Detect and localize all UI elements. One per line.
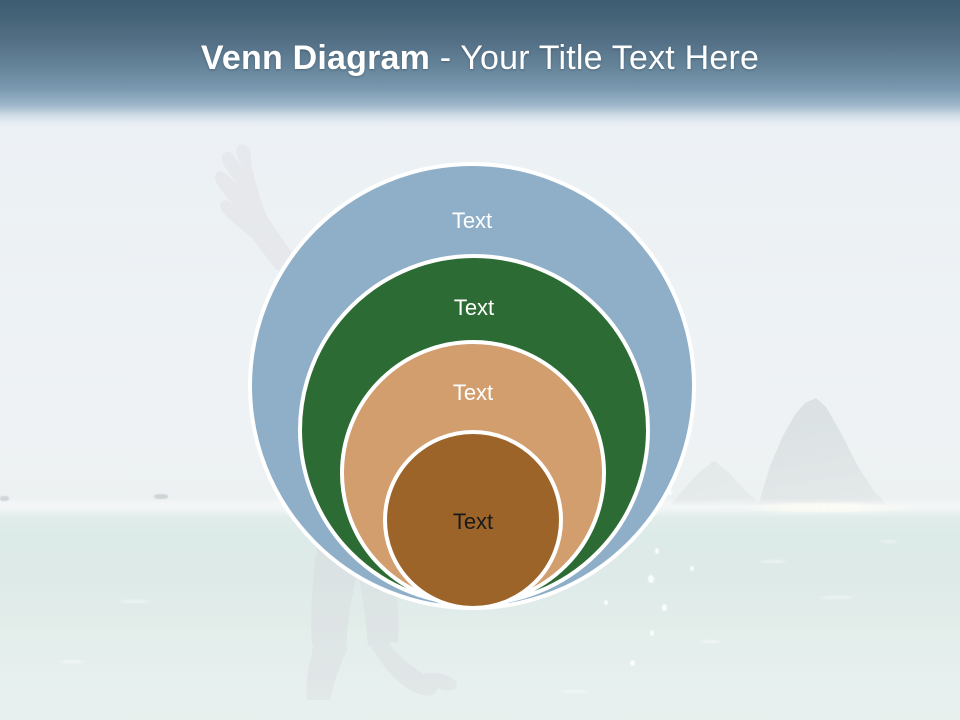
sea-sparkle <box>700 640 722 643</box>
venn-circle-label-4: Text <box>387 509 559 535</box>
water-droplet <box>662 604 667 611</box>
water-droplet <box>690 566 694 571</box>
sea-sparkle <box>820 596 854 599</box>
venn-circle-label-3: Text <box>344 380 602 406</box>
slide-canvas: Venn Diagram - Your Title Text Here Text… <box>0 0 960 720</box>
venn-circle-label-2: Text <box>302 295 646 321</box>
sea-sparkle <box>120 600 150 603</box>
distant-boat-secondary-icon <box>0 496 9 501</box>
distant-boat-icon <box>154 494 168 499</box>
water-droplet <box>648 575 654 583</box>
sea-sparkle <box>880 540 898 543</box>
water-droplet <box>655 548 659 554</box>
water-droplet <box>604 600 608 605</box>
page-title-light: - Your Title Text Here <box>430 39 759 77</box>
venn-circle-label-1: Text <box>252 208 692 234</box>
water-droplet <box>630 660 635 666</box>
venn-circle-inner-brown[interactable]: Text <box>383 430 563 610</box>
beach-strip <box>740 503 915 512</box>
sea-sparkle <box>760 560 786 563</box>
sea-sparkle <box>60 660 84 663</box>
page-title: Venn Diagram - Your Title Text Here <box>0 38 960 78</box>
sea-sparkle <box>560 690 588 693</box>
page-title-strong: Venn Diagram <box>201 39 430 77</box>
water-droplet <box>650 630 654 636</box>
title-bar: Venn Diagram - Your Title Text Here <box>0 0 960 128</box>
